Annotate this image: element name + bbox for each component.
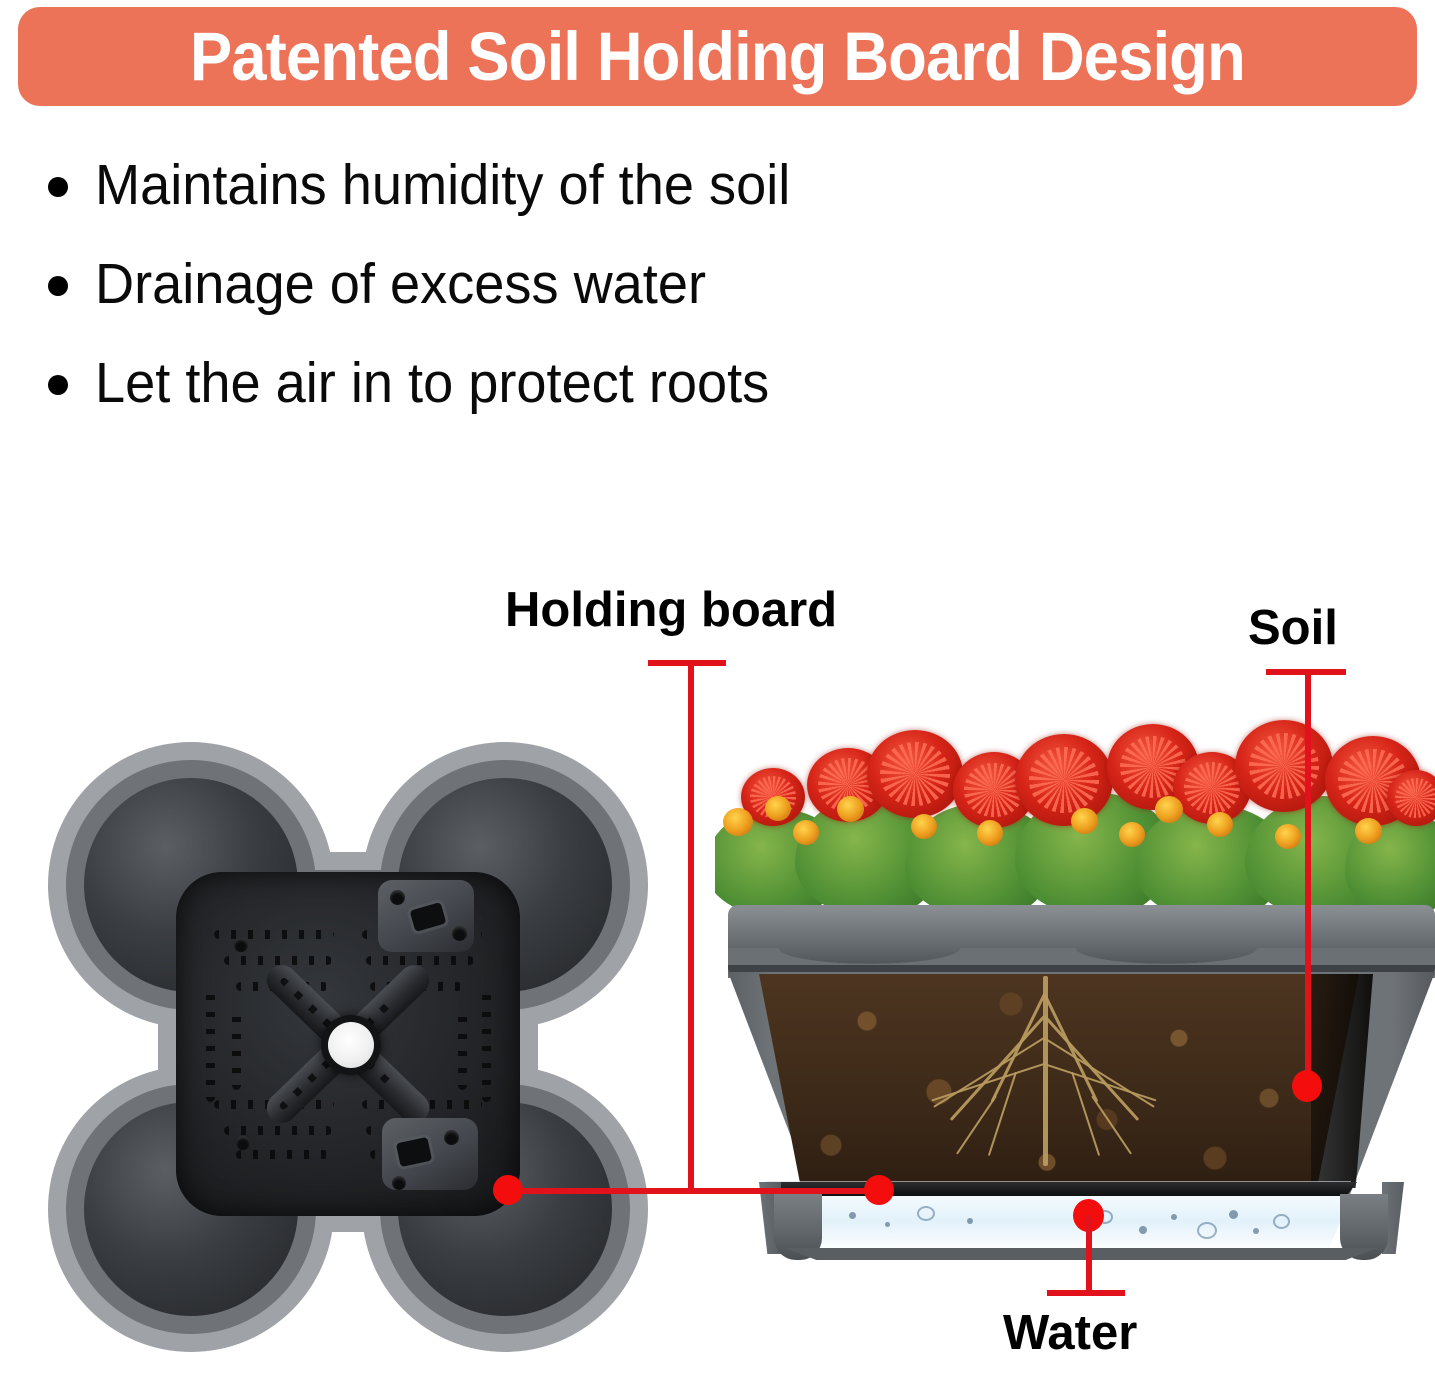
page-title: Patented Soil Holding Board Design (190, 22, 1245, 91)
flower-bud (1275, 824, 1301, 849)
planter-cross-section-image (715, 700, 1435, 1290)
list-item: Drainage of excess water (48, 251, 1098, 317)
plant-roots (895, 976, 1195, 1176)
feature-text: Let the air in to protect roots (95, 350, 769, 416)
root (931, 1063, 1044, 1101)
root (1043, 1037, 1154, 1108)
holding-board-marker-right (864, 1175, 894, 1205)
flower (1015, 734, 1113, 826)
flower-bud (837, 796, 864, 822)
bullet-dot-icon (48, 276, 68, 296)
soil-leader-vert (1305, 672, 1311, 1086)
screw-hole (452, 926, 467, 941)
drainage-slots (214, 930, 334, 939)
root (988, 1072, 1017, 1156)
screw-hole (392, 1176, 406, 1190)
flower-bud (793, 820, 819, 845)
flower-bud (977, 820, 1003, 846)
flower (867, 730, 963, 818)
flower-bed (715, 700, 1435, 915)
drainage-slots (366, 956, 474, 965)
root (991, 993, 1046, 1102)
feature-list: Maintains humidity of the soil Drainage … (48, 152, 1098, 449)
screw-hole (236, 1136, 250, 1150)
flower-bud (765, 796, 791, 821)
holding-board-leader-cap (648, 660, 726, 666)
root (1044, 1063, 1157, 1101)
list-item: Let the air in to protect roots (48, 350, 1098, 416)
root (933, 1037, 1044, 1108)
center-drain-hole (328, 1022, 374, 1068)
flower-bud (1071, 808, 1098, 834)
water-leader-cap (1047, 1290, 1125, 1296)
flower-bud (911, 814, 937, 839)
flower-bud (1207, 812, 1233, 837)
drainage-slots (224, 1126, 332, 1135)
screw-hole (444, 1130, 459, 1145)
header-banner: Patented Soil Holding Board Design (18, 7, 1417, 106)
flower-bud (1155, 796, 1183, 823)
water-leader-vert (1086, 1215, 1092, 1293)
soil-marker (1292, 1070, 1322, 1102)
bullet-dot-icon (48, 177, 68, 197)
callout-label-water: Water (1003, 1309, 1137, 1358)
flower (1235, 720, 1333, 812)
holding-board-marker-left (493, 1175, 523, 1205)
drainage-slots (482, 992, 491, 1102)
drainage-slots (458, 1008, 467, 1090)
root (1071, 1072, 1100, 1156)
holding-board-plate (176, 872, 520, 1216)
drainage-slots (206, 992, 215, 1102)
feature-text: Drainage of excess water (95, 251, 706, 317)
planter-top-view-image (48, 742, 648, 1352)
drainage-slots (224, 956, 332, 965)
drainage-slots (236, 1150, 328, 1159)
callout-label-holding-board: Holding board (505, 586, 837, 635)
base-floor (766, 1248, 1396, 1260)
callout-label-soil: Soil (1248, 604, 1338, 653)
holding-board-leader-vert (688, 663, 694, 1193)
screw-hole (390, 890, 405, 905)
feature-text: Maintains humidity of the soil (95, 152, 790, 218)
bullet-dot-icon (48, 375, 68, 395)
flower-bud (1355, 818, 1382, 844)
list-item: Maintains humidity of the soil (48, 152, 1098, 218)
flower-bud (723, 808, 753, 836)
drainage-slots (232, 1008, 241, 1090)
flower-bud (1119, 822, 1145, 847)
holding-board-leader-horiz (520, 1188, 880, 1194)
screw-hole (234, 938, 248, 952)
